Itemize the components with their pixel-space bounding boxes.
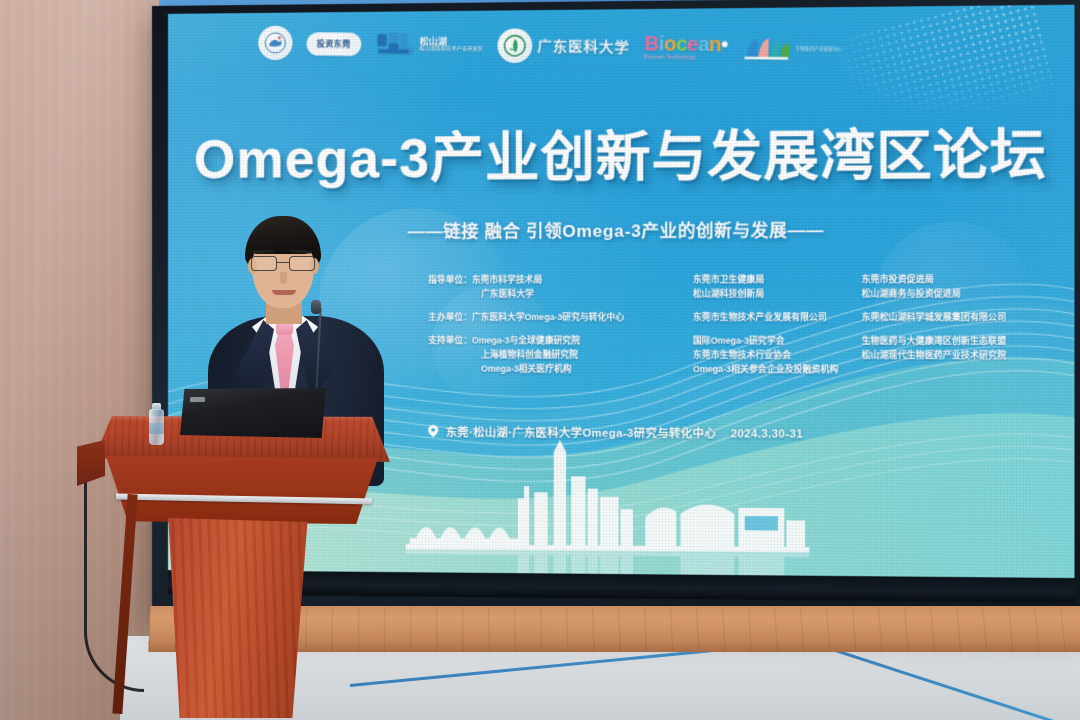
sail-icon: [742, 36, 790, 61]
organizer-value: 东莞市科学技术局: [472, 275, 542, 285]
organizer-line: 东莞市生物技术行业协会: [693, 348, 851, 362]
speaker-mouth: [272, 290, 296, 295]
organizer-line: Omega-3相关参会企业及投融资机构: [693, 363, 851, 378]
biocean-sublabel: Biocean Technology: [644, 55, 728, 61]
organizer-line: 东莞市投资促进局: [862, 273, 1041, 287]
invest-dongguan-logo: 投资东莞: [306, 32, 361, 56]
microphone-head-icon: [311, 300, 321, 314]
emblem-icon: [258, 26, 293, 61]
sail-logo: 生物医药产业创新中心: [742, 36, 843, 62]
organizer-line: 东莞松山湖科学城发展集团有限公司: [862, 311, 1041, 325]
glasses-bridge: [277, 262, 289, 263]
gdmu-logo: 广东医科大学: [497, 28, 630, 64]
organizer-group: 东莞松山湖科学城发展集团有限公司: [862, 311, 1041, 325]
organizer-group: 东莞市投资促进局 松山湖商务与投资促进局: [862, 273, 1041, 302]
songshan-lake-logo: 松山湖 松山湖高新技术产业开发区: [375, 30, 484, 60]
organizer-column-2: 东莞市卫生健康局 松山湖科技创新局 东莞市生物技术产业发展有限公司 国际Omeg…: [693, 273, 851, 386]
water-bottle: [148, 403, 165, 445]
podium-stem: [142, 518, 330, 718]
organizer-line: 主办单位：广东医科大学Omega-3研究与转化中心: [428, 311, 682, 325]
venue-place: 东莞·松山湖·广东医科大学Omega-3研究与转化中心: [446, 427, 716, 440]
sail-text: 生物医药产业创新中心: [795, 46, 842, 52]
organizer-group: 生物医药与大健康湾区创新生态联盟 松山湖现代生物医药产业技术研究院: [862, 334, 1041, 363]
organizer-group: 指导单位：东莞市科学技术局 广东医科大学: [428, 273, 682, 301]
organizer-line: Omega-3相关医疗机构: [428, 362, 682, 377]
glasses-lens: [251, 256, 277, 271]
glasses-icon: [248, 256, 318, 272]
organizer-line: 松山湖科技创新局: [693, 287, 851, 301]
laptop-brand-badge: [190, 397, 205, 402]
songshan-lake-icon: [375, 30, 416, 59]
speaker-nose: [280, 272, 287, 284]
gdmu-emblem-icon: [497, 28, 533, 63]
gdmu-label: 广东医科大学: [537, 36, 630, 57]
organizer-list: 指导单位：东莞市科学技术局 广东医科大学 主办单位：广东医科大学Omega-3研…: [428, 273, 1040, 387]
floor-inlay-line: [820, 644, 1080, 720]
emblem-circle-logo: [258, 26, 293, 61]
organizer-line: 东莞市生物技术产业发展有限公司: [693, 311, 851, 325]
organizer-line: 松山湖商务与投资促进局: [862, 287, 1041, 301]
organizer-line: 生物医药与大健康湾区创新生态联盟: [862, 334, 1041, 348]
organizer-label: 指导单位：: [428, 275, 472, 285]
organizer-line: 广东医科大学: [428, 287, 682, 301]
page-title: Omega-3产业创新与发展湾区论坛: [168, 112, 1075, 194]
organizer-column-3: 东莞市投资促进局 松山湖商务与投资促进局 东莞松山湖科学城发展集团有限公司 生物…: [862, 273, 1041, 387]
organizer-line: 支持单位：Omega-3与全球健康研究院: [428, 334, 682, 348]
conference-scene: 投资东莞 松山湖 松山湖高新技术产业开发区: [0, 0, 1080, 720]
organizer-group: 东莞市生物技术产业发展有限公司: [693, 311, 851, 325]
organizer-line: 国际Omega-3研究学会: [693, 334, 851, 348]
bottle-label: [149, 423, 164, 434]
location-pin-icon: [428, 425, 438, 440]
organizer-group: 支持单位：Omega-3与全球健康研究院 上海植物科创金融研究院 Omega-3…: [428, 334, 682, 377]
biocean-logo: Biocean• Biocean Technology: [644, 34, 728, 61]
sail-sublabel: 生物医药产业创新中心: [795, 46, 842, 52]
songshan-lake-text: 松山湖 松山湖高新技术产业开发区: [419, 37, 483, 53]
organizer-line: 东莞市卫生健康局: [693, 273, 851, 287]
organizer-label: 支持单位：: [428, 335, 472, 345]
organizer-value: 广东医科大学Omega-3研究与转化中心: [472, 312, 624, 322]
organizer-group: 主办单位：广东医科大学Omega-3研究与转化中心: [428, 311, 682, 325]
organizer-line: 指导单位：东莞市科学技术局: [428, 273, 682, 287]
sponsor-logo-bar: 投资东莞 松山湖 松山湖高新技术产业开发区: [258, 12, 980, 83]
organizer-column-1: 指导单位：东莞市科学技术局 广东医科大学 主办单位：广东医科大学Omega-3研…: [428, 273, 682, 386]
organizer-label: 主办单位：: [428, 312, 472, 322]
venue-date: 2024.3.30-31: [731, 428, 803, 441]
podium-body: [106, 456, 378, 524]
songshan-lake-sublabel: 松山湖高新技术产业开发区: [419, 47, 483, 53]
laptop: [180, 388, 326, 438]
podium: [76, 398, 406, 720]
organizer-line: 上海植物科创金融研究院: [428, 348, 682, 362]
organizer-group: 东莞市卫生健康局 松山湖科技创新局: [693, 273, 851, 302]
organizer-group: 国际Omega-3研究学会 东莞市生物技术行业协会 Omega-3相关参会企业及…: [693, 334, 851, 377]
invest-dongguan-label: 投资东莞: [306, 32, 361, 56]
organizer-line: 松山湖现代生物医药产业技术研究院: [862, 349, 1041, 364]
biocean-wordmark: Biocean• Biocean Technology: [644, 34, 728, 61]
organizer-value: Omega-3与全球健康研究院: [472, 335, 580, 345]
glasses-lens: [289, 256, 315, 271]
